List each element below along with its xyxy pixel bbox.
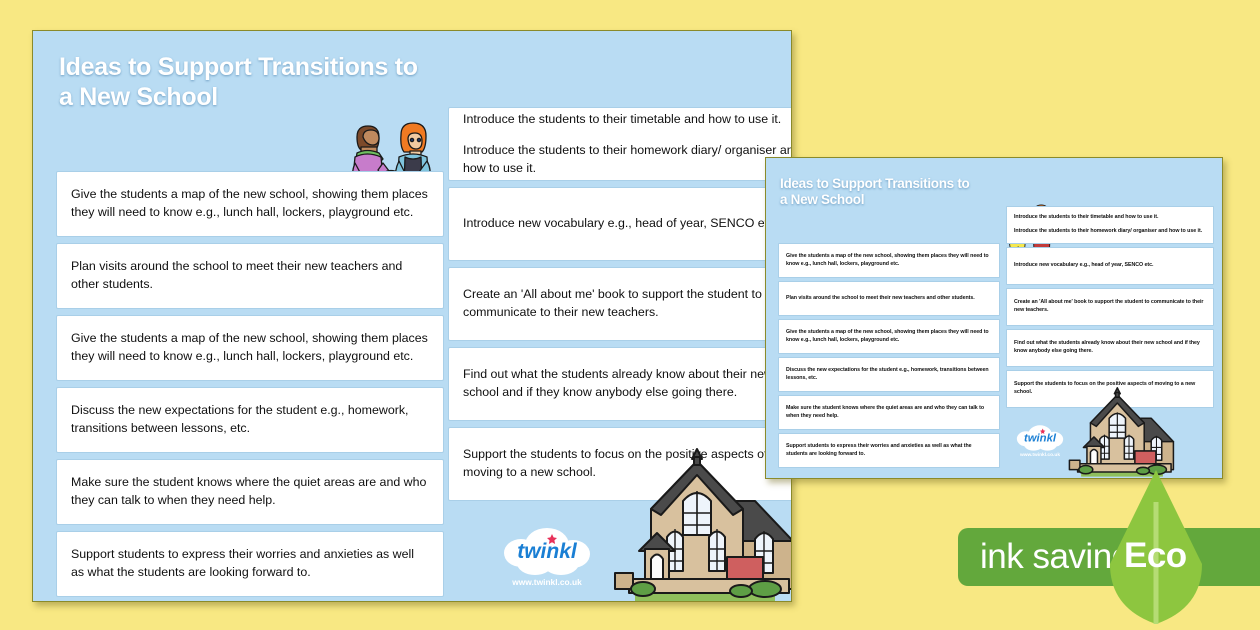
preview-ideas-column-right: Introduce the students to their timetabl… — [1006, 206, 1214, 411]
idea-text: Introduce new vocabulary e.g., head of y… — [463, 215, 792, 233]
preview-title-line-1: Ideas to Support Transitions to — [780, 176, 969, 191]
preview-idea-text-secondary: Introduce the students to their homework… — [1014, 228, 1206, 236]
preview-idea-card[interactable]: Give the students a map of the new schoo… — [778, 319, 1000, 354]
preview-idea-card[interactable]: Discuss the new expectations for the stu… — [778, 357, 1000, 392]
idea-text-secondary: Introduce the students to their homework… — [463, 142, 792, 178]
twinkl-logo-small[interactable]: twinkl www.twinkl.co.uk — [1012, 422, 1068, 462]
preview-idea-card[interactable]: Make sure the student knows where the qu… — [778, 395, 1000, 430]
idea-card[interactable]: Introduce new vocabulary e.g., head of y… — [448, 187, 792, 261]
idea-card[interactable]: Create an 'All about me' book to support… — [448, 267, 792, 341]
idea-card[interactable]: Make sure the student knows where the qu… — [56, 459, 444, 525]
idea-card[interactable]: Plan visits around the school to meet th… — [56, 243, 444, 309]
preview-idea-card[interactable]: Create an 'All about me' book to support… — [1006, 288, 1214, 326]
preview-idea-card[interactable]: Introduce the students to their timetabl… — [1006, 206, 1214, 244]
ink-saving-eco-badge: ink saving Eco — [958, 528, 1260, 586]
preview-idea-text: Give the students a map of the new schoo… — [786, 253, 992, 268]
preview-idea-text: Introduce new vocabulary e.g., head of y… — [1014, 262, 1206, 270]
idea-text: Introduce the students to their timetabl… — [463, 111, 792, 129]
preview-idea-card[interactable]: Plan visits around the school to meet th… — [778, 281, 1000, 316]
preview-title-line-2: a New School — [780, 192, 864, 207]
idea-card[interactable]: Discuss the new expectations for the stu… — [56, 387, 444, 453]
eco-badge-leaf-label: Eco — [1124, 536, 1187, 576]
idea-card[interactable]: Find out what the students already know … — [448, 347, 792, 421]
idea-text: Find out what the students already know … — [463, 366, 792, 402]
idea-text: Give the students a map of the new schoo… — [71, 186, 429, 222]
page-title: Ideas to Support Transitions to a New Sc… — [59, 53, 459, 112]
preview-idea-text: Find out what the students already know … — [1014, 340, 1206, 355]
twinkl-url-small: www.twinkl.co.uk — [1019, 452, 1060, 458]
idea-text: Support students to express their worrie… — [71, 546, 429, 582]
preview-idea-text: Support students to express their worrie… — [786, 443, 992, 458]
preview-idea-text: Discuss the new expectations for the stu… — [786, 367, 992, 382]
preview-idea-text: Create an 'All about me' book to support… — [1014, 299, 1206, 314]
preview-ideas-column-left: Give the students a map of the new schoo… — [778, 243, 1000, 471]
preview-idea-card[interactable]: Support students to express their worrie… — [778, 433, 1000, 468]
preview-idea-card[interactable]: Give the students a map of the new schoo… — [778, 243, 1000, 278]
idea-text: Make sure the student knows where the qu… — [71, 474, 429, 510]
idea-text: Create an 'All about me' book to support… — [463, 286, 792, 322]
school-building-icon — [605, 439, 792, 602]
preview-idea-text: Make sure the student knows where the qu… — [786, 405, 992, 420]
idea-card[interactable]: Introduce the students to their timetabl… — [448, 107, 792, 181]
svg-text:twinkl: twinkl — [1024, 432, 1057, 444]
page-title-line-1: Ideas to Support Transitions to — [59, 53, 418, 81]
school-building-icon-small — [1062, 382, 1182, 479]
idea-text: Give the students a map of the new schoo… — [71, 330, 429, 366]
idea-card[interactable]: Give the students a map of the new schoo… — [56, 315, 444, 381]
idea-text: Plan visits around the school to meet th… — [71, 258, 429, 294]
preview-idea-card[interactable]: Introduce new vocabulary e.g., head of y… — [1006, 247, 1214, 285]
svg-text:twinkl: twinkl — [517, 540, 578, 563]
page-title-line-2: a New School — [59, 83, 218, 111]
preview-page-title: Ideas to Support Transitions to a New Sc… — [780, 176, 1010, 208]
poster-main[interactable]: Ideas to Support Transitions to a New Sc… — [32, 30, 792, 602]
idea-text: Discuss the new expectations for the stu… — [71, 402, 429, 438]
preview-idea-text: Plan visits around the school to meet th… — [786, 295, 992, 303]
twinkl-logo[interactable]: twinkl www.twinkl.co.uk — [495, 523, 599, 595]
poster-ink-saving-preview[interactable]: Ideas to Support Transitions to a New Sc… — [765, 157, 1223, 479]
preview-idea-text: Give the students a map of the new schoo… — [786, 329, 992, 344]
idea-card[interactable]: Give the students a map of the new schoo… — [56, 171, 444, 237]
preview-idea-card[interactable]: Find out what the students already know … — [1006, 329, 1214, 367]
idea-card[interactable]: Support students to express their worrie… — [56, 531, 444, 597]
ideas-column-left: Give the students a map of the new schoo… — [56, 171, 444, 602]
preview-idea-text: Introduce the students to their timetabl… — [1014, 214, 1206, 222]
twinkl-url: www.twinkl.co.uk — [511, 577, 582, 587]
